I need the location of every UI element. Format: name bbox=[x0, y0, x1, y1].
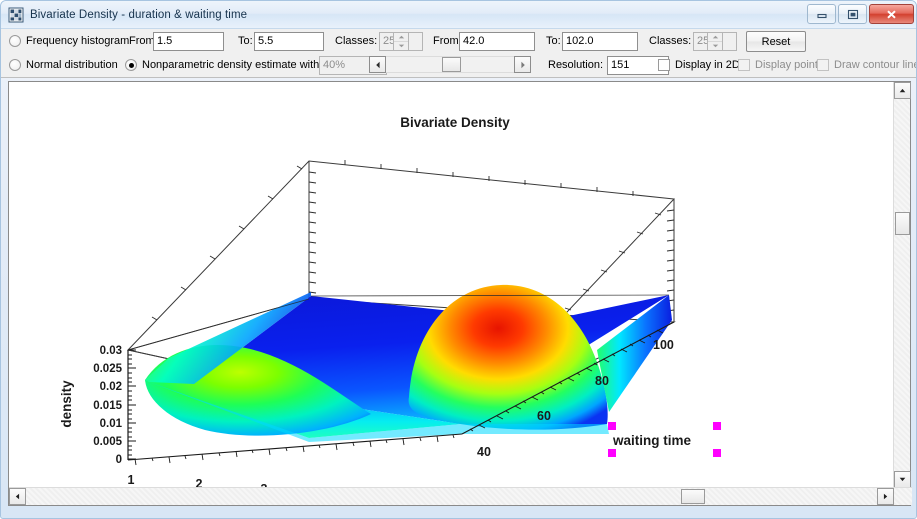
y-classes-label-group: Classes: bbox=[649, 31, 691, 51]
bivariate-density-surface-plot[interactable]: Bivariate Density bbox=[9, 82, 879, 488]
x-axis: 1 2 3 4 5 6 duration bbox=[128, 434, 462, 488]
radio-nonparametric[interactable]: Nonparametric density estimate with widt… bbox=[125, 55, 351, 75]
slider-track[interactable] bbox=[386, 56, 514, 73]
checkbox-display-2d[interactable]: Display in 2D bbox=[658, 55, 740, 75]
y-to-label: To: bbox=[546, 31, 561, 51]
reset-button[interactable]: Reset bbox=[746, 31, 806, 52]
z-tick-0: 0 bbox=[116, 454, 122, 466]
y-axis-label[interactable]: waiting time bbox=[612, 433, 691, 448]
plot-client-area: Bivariate Density bbox=[8, 81, 911, 506]
x-classes-label-group: Classes: bbox=[335, 31, 377, 51]
radio-indicator bbox=[9, 59, 21, 71]
x-classes-label: Classes: bbox=[335, 31, 377, 51]
radio-normal-distribution[interactable]: Normal distribution bbox=[9, 55, 118, 75]
checkbox-indicator bbox=[817, 59, 829, 71]
window-controls bbox=[807, 4, 914, 24]
close-button[interactable] bbox=[869, 4, 914, 24]
horizontal-scroll-thumb[interactable] bbox=[681, 489, 705, 504]
radio-frequency-histogram[interactable]: Frequency histogram bbox=[9, 31, 129, 51]
y-tick-1: 60 bbox=[537, 409, 551, 423]
y-tick-2: 80 bbox=[595, 374, 609, 388]
y-classes-spinner-down[interactable] bbox=[708, 42, 722, 50]
y-tick-0: 40 bbox=[477, 445, 491, 459]
x-to-label: To: bbox=[238, 31, 253, 51]
y-classes-spinner[interactable] bbox=[707, 32, 723, 51]
options-toolbar: Frequency histogram From: 1.5 To: 5.5 Cl… bbox=[1, 29, 917, 78]
y-classes-spinner-up[interactable] bbox=[708, 33, 722, 42]
slider-right-arrow-icon[interactable] bbox=[514, 56, 531, 73]
title-bar: Bivariate Density - duration & waiting t… bbox=[1, 1, 917, 29]
bandwidth-slider[interactable] bbox=[369, 56, 531, 73]
radio-normal-distribution-label: Normal distribution bbox=[26, 55, 118, 75]
checkbox-display-points[interactable]: Display points bbox=[738, 55, 823, 75]
z-tick-3: 0.015 bbox=[93, 400, 122, 412]
chart-title: Bivariate Density bbox=[400, 115, 510, 130]
vertical-scroll-thumb[interactable] bbox=[895, 212, 910, 235]
density-surface bbox=[145, 285, 672, 442]
checkbox-draw-contour-lines-label: Draw contour lines bbox=[834, 55, 917, 75]
radio-indicator bbox=[125, 59, 137, 71]
x-classes-spinner[interactable] bbox=[393, 32, 409, 51]
y-axis-label-selection[interactable]: waiting time bbox=[608, 422, 721, 457]
y-to-label-group: To: bbox=[546, 31, 561, 51]
z-axis: 0.03 0.025 0.02 0.015 0.01 0.005 0 densi… bbox=[59, 345, 136, 466]
y-classes-label: Classes: bbox=[649, 31, 691, 51]
checkbox-indicator bbox=[658, 59, 670, 71]
checkbox-indicator bbox=[738, 59, 750, 71]
slider-left-arrow-icon[interactable] bbox=[369, 56, 386, 73]
z-tick-5: 0.025 bbox=[93, 363, 122, 375]
application-window: Bivariate Density - duration & waiting t… bbox=[0, 0, 917, 519]
y-to-input[interactable]: 102.0 bbox=[562, 32, 638, 51]
scroll-left-arrow-icon[interactable] bbox=[9, 488, 26, 505]
y-tick-3: 100 bbox=[653, 338, 674, 352]
x-tick-0: 1 bbox=[128, 473, 135, 487]
checkbox-display-points-label: Display points bbox=[755, 55, 823, 75]
window-title: Bivariate Density - duration & waiting t… bbox=[30, 9, 247, 21]
x-classes-spinner-up[interactable] bbox=[394, 33, 408, 42]
x-classes-spinner-down[interactable] bbox=[394, 42, 408, 50]
scroll-down-arrow-icon[interactable] bbox=[894, 471, 911, 488]
radio-frequency-histogram-label: Frequency histogram bbox=[26, 31, 129, 51]
plot-vertical-scrollbar[interactable] bbox=[893, 82, 910, 488]
x-to-input[interactable]: 5.5 bbox=[254, 32, 324, 51]
maximize-button[interactable] bbox=[838, 4, 867, 24]
checkbox-display-2d-label: Display in 2D bbox=[675, 55, 740, 75]
selection-handle-top-left[interactable] bbox=[608, 422, 616, 430]
z-tick-6: 0.03 bbox=[100, 345, 122, 357]
checkbox-draw-contour-lines[interactable]: Draw contour lines bbox=[817, 55, 917, 75]
plot-horizontal-scrollbar[interactable] bbox=[9, 487, 912, 505]
selection-handle-top-right[interactable] bbox=[713, 422, 721, 430]
x-to-label-group: To: bbox=[238, 31, 253, 51]
z-tick-4: 0.02 bbox=[100, 381, 122, 393]
z-tick-2: 0.01 bbox=[100, 418, 123, 430]
x-from-input[interactable]: 1.5 bbox=[153, 32, 224, 51]
y-from-label: From: bbox=[433, 31, 462, 51]
y-from-label-group: From: bbox=[433, 31, 462, 51]
selection-handle-bottom-right[interactable] bbox=[713, 449, 721, 457]
reset-button-label: Reset bbox=[762, 36, 791, 48]
resolution-label-group: Resolution: bbox=[548, 55, 603, 75]
y-from-input[interactable]: 42.0 bbox=[459, 32, 535, 51]
plot-viewport[interactable]: Bivariate Density bbox=[9, 82, 879, 488]
scroll-right-arrow-icon[interactable] bbox=[877, 488, 894, 505]
selection-handle-bottom-left[interactable] bbox=[608, 449, 616, 457]
minimize-button[interactable] bbox=[807, 4, 836, 24]
z-axis-label: density bbox=[59, 380, 74, 428]
resolution-label: Resolution: bbox=[548, 55, 603, 75]
slider-thumb[interactable] bbox=[442, 57, 461, 72]
scroll-up-arrow-icon[interactable] bbox=[894, 82, 911, 99]
radio-indicator bbox=[9, 35, 21, 47]
z-tick-1: 0.005 bbox=[93, 436, 122, 448]
grid-chart-icon bbox=[8, 7, 24, 23]
